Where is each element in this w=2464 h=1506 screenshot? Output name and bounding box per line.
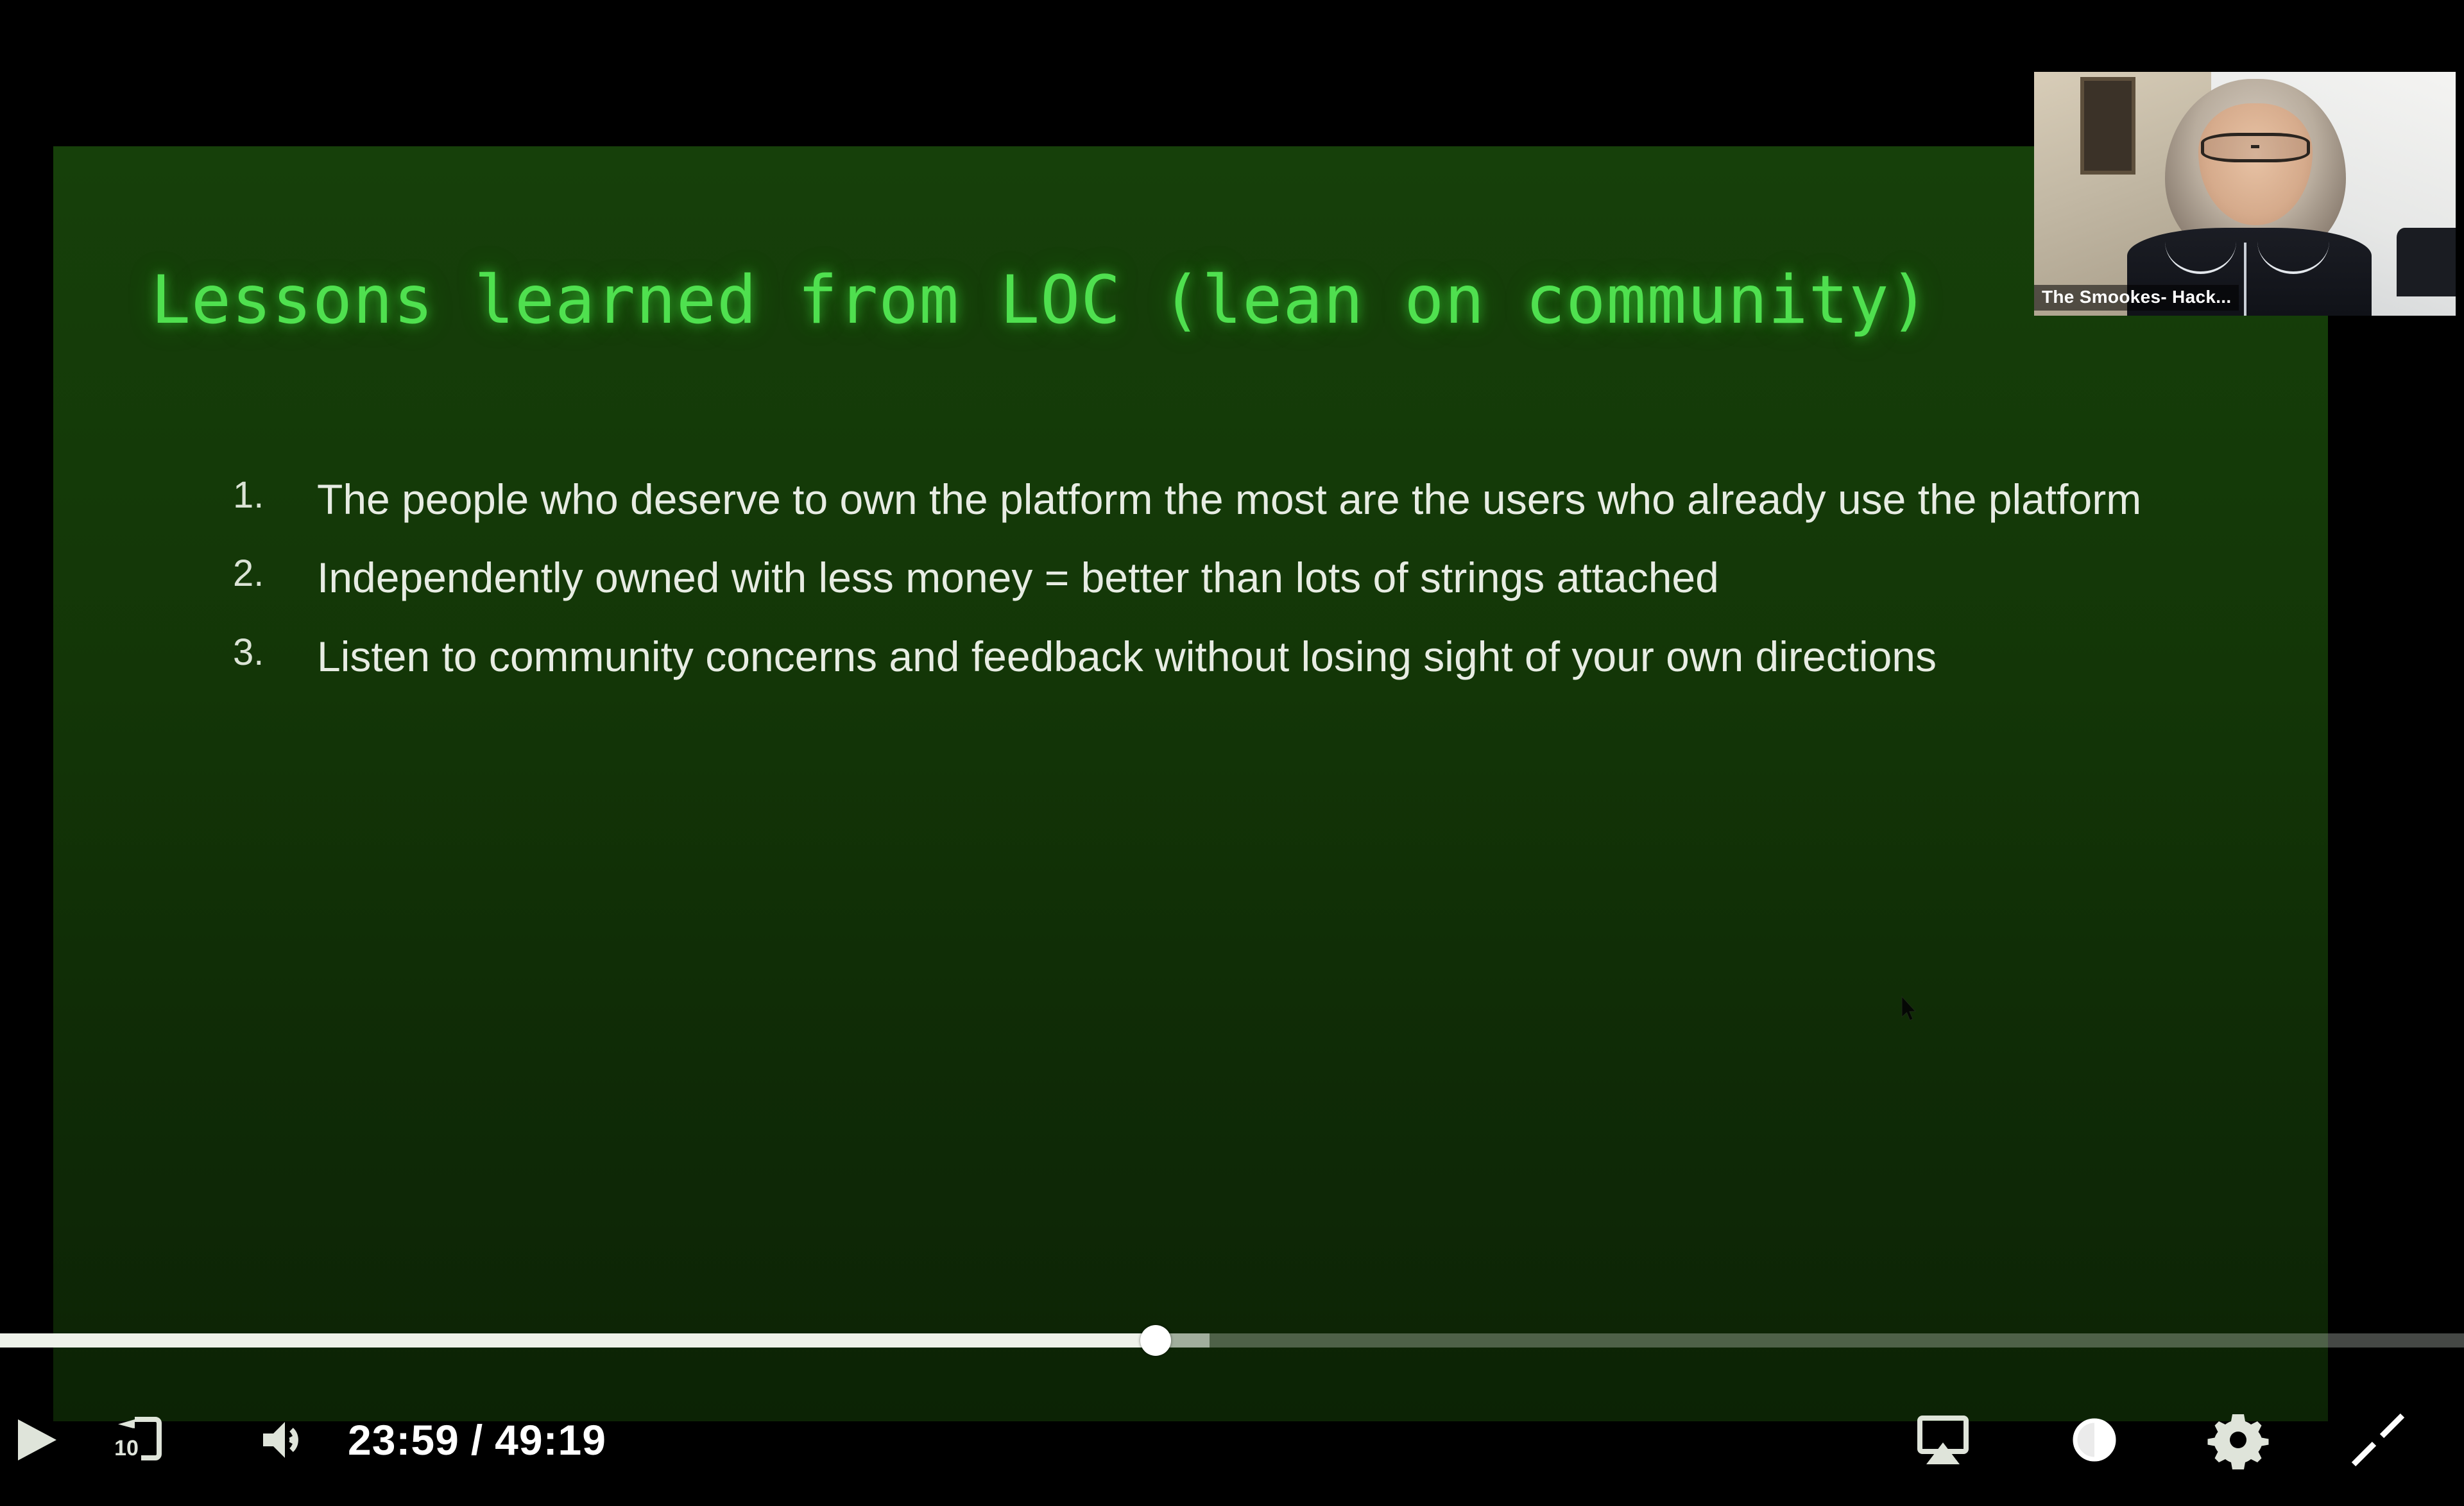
play-icon	[9, 1413, 63, 1467]
list-item-text: Listen to community concerns and feedbac…	[317, 624, 2150, 689]
current-time: 23:59	[348, 1416, 459, 1464]
webcam-picture-frame	[2080, 77, 2135, 175]
player-control-bar: 10 23:59/49:19	[0, 1373, 2464, 1506]
volume-button[interactable]	[257, 1410, 316, 1469]
volume-icon	[257, 1410, 316, 1469]
airplay-icon	[1912, 1409, 1974, 1471]
video-player[interactable]: Lessons learned from LOC (lean on commun…	[0, 0, 2464, 1506]
slide-bullet-list: 1. The people who deserve to own the pla…	[225, 467, 2150, 703]
video-progress-bar[interactable]	[0, 1333, 2464, 1348]
list-item-text: The people who deserve to own the platfo…	[317, 467, 2150, 531]
rewind-10-button[interactable]: 10	[105, 1409, 167, 1471]
list-item-marker: 1.	[225, 467, 317, 524]
list-item-marker: 2.	[225, 545, 317, 602]
contrast-icon	[2066, 1412, 2123, 1468]
airplay-button[interactable]	[1912, 1409, 1974, 1471]
progress-played	[0, 1333, 1156, 1348]
gear-icon	[2207, 1409, 2269, 1471]
webcam-participant-label: The Smookes- Hack...	[2034, 285, 2239, 311]
play-button[interactable]	[9, 1413, 63, 1467]
webcam-speaker-zipper	[2244, 243, 2246, 316]
fullscreen-button[interactable]	[2348, 1410, 2408, 1469]
mouse-pointer-icon	[1901, 996, 1917, 1023]
scrubber-handle[interactable]	[1140, 1325, 1171, 1356]
list-item-text: Independently owned with less money = be…	[317, 545, 2150, 610]
list-item: 1. The people who deserve to own the pla…	[225, 467, 2150, 531]
webcam-speaker-glasses	[2201, 133, 2311, 162]
svg-text:10: 10	[114, 1436, 139, 1460]
time-separator: /	[471, 1416, 483, 1464]
presentation-slide: Lessons learned from LOC (lean on commun…	[53, 146, 2328, 1421]
slide-title: Lessons learned from LOC (lean on commun…	[151, 262, 1930, 339]
time-display: 23:59/49:19	[348, 1416, 606, 1464]
webcam-pip-overlay[interactable]: The Smookes- Hack...	[2034, 72, 2456, 316]
list-item-marker: 3.	[225, 624, 317, 681]
webcam-background-object	[2397, 228, 2456, 296]
contrast-button[interactable]	[2066, 1412, 2123, 1468]
rewind-10-icon: 10	[105, 1409, 167, 1471]
settings-button[interactable]	[2207, 1409, 2269, 1471]
list-item: 2. Independently owned with less money =…	[225, 545, 2150, 610]
fullscreen-expand-icon	[2348, 1410, 2408, 1469]
list-item: 3. Listen to community concerns and feed…	[225, 624, 2150, 689]
total-duration: 49:19	[495, 1416, 606, 1464]
